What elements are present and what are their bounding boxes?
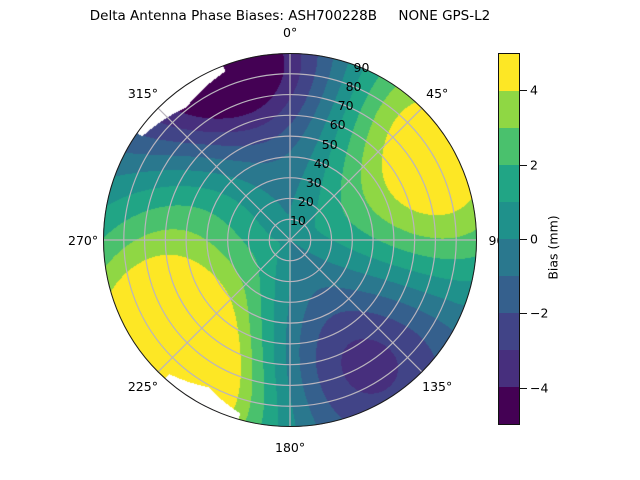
colorbar-band bbox=[499, 350, 519, 387]
azimuth-tick-label-180: 180° bbox=[275, 440, 305, 455]
colorbar-tick-mark bbox=[520, 239, 527, 240]
colorbar-tick-label: −4 bbox=[530, 380, 548, 395]
page-title: Delta Antenna Phase Biases: ASH700228B N… bbox=[0, 8, 580, 24]
radial-tick-label-30: 30 bbox=[306, 175, 322, 190]
colorbar-tick-mark bbox=[520, 90, 527, 91]
polar-bias-figure: Delta Antenna Phase Biases: ASH700228B N… bbox=[0, 0, 640, 480]
colorbar-band bbox=[499, 313, 519, 350]
colorbar-band bbox=[499, 387, 519, 424]
colorbar-band bbox=[499, 54, 519, 91]
colorbar-tick-mark bbox=[520, 388, 527, 389]
radial-tick-label-20: 20 bbox=[298, 194, 314, 209]
radial-tick-label-50: 50 bbox=[322, 137, 338, 152]
colorbar-label: Bias (mm) bbox=[546, 215, 561, 279]
colorbar bbox=[498, 53, 520, 425]
colorbar-tick-label: 0 bbox=[530, 232, 538, 247]
azimuth-tick-label-0: 0° bbox=[283, 25, 297, 40]
radial-tick-label-80: 80 bbox=[346, 79, 362, 94]
polar-gridlines bbox=[103, 53, 477, 427]
colorbar-tick-label: 2 bbox=[530, 157, 538, 172]
colorbar-band bbox=[499, 165, 519, 202]
azimuth-tick-label-45: 45° bbox=[426, 86, 448, 101]
colorbar-tick-label: −2 bbox=[530, 306, 548, 321]
radial-tick-label-90: 90 bbox=[354, 60, 370, 75]
colorbar-band bbox=[499, 276, 519, 313]
polar-clip-disc bbox=[103, 53, 477, 427]
azimuth-tick-label-225: 225° bbox=[128, 379, 158, 394]
radial-tick-label-70: 70 bbox=[338, 98, 354, 113]
colorbar-band bbox=[499, 239, 519, 276]
azimuth-tick-label-315: 315° bbox=[128, 86, 158, 101]
colorbar-tick-label: 4 bbox=[530, 83, 538, 98]
colorbar-tick-mark bbox=[520, 165, 527, 166]
azimuth-tick-label-135: 135° bbox=[422, 379, 452, 394]
polar-axes bbox=[103, 53, 477, 427]
azimuth-tick-label-270: 270° bbox=[68, 233, 98, 248]
radial-tick-label-40: 40 bbox=[314, 156, 330, 171]
colorbar-band bbox=[499, 202, 519, 239]
colorbar-tick-mark bbox=[520, 313, 527, 314]
radial-tick-label-60: 60 bbox=[330, 117, 346, 132]
colorbar-band bbox=[499, 91, 519, 128]
colorbar-band bbox=[499, 128, 519, 165]
radial-tick-label-10: 10 bbox=[290, 213, 306, 228]
